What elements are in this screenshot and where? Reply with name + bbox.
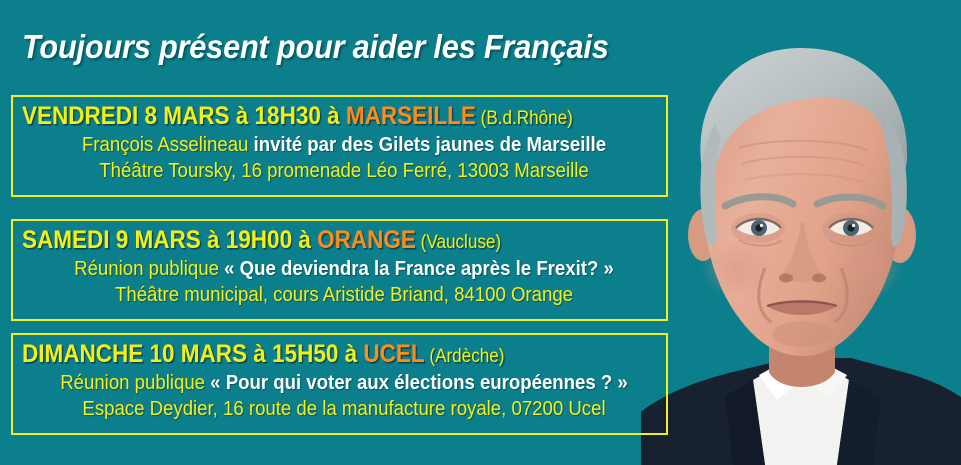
event-headline: SAMEDI 9 MARS à 19H00 à ORANGE (Vaucluse…	[22, 226, 602, 256]
event-venue: Théâtre Toursky, 16 promenade Léo Ferré,…	[45, 158, 644, 184]
event-speaker-name: François Asselineau	[82, 134, 254, 156]
event-headline-department: (Ardèche)	[425, 346, 505, 367]
event-headline-main: VENDREDI 8 MARS à 18H30 à	[22, 102, 346, 130]
event-subline-detail: « Que deviendra la France après le Frexi…	[224, 258, 614, 280]
event-subline-detail: « Pour qui voter aux élections européenn…	[210, 372, 628, 394]
event-headline-city: UCEL	[363, 340, 424, 368]
event-subline-speaker: François Asselineau invité par des Gilet…	[45, 132, 644, 158]
event-box: SAMEDI 9 MARS à 19H00 à ORANGE (Vaucluse…	[11, 219, 668, 321]
event-venue: Théâtre municipal, cours Aristide Briand…	[45, 282, 644, 308]
event-subline-speaker: Réunion publique « Pour qui voter aux él…	[45, 370, 644, 396]
event-headline-city: ORANGE	[317, 226, 416, 254]
event-subline-speaker: Réunion publique « Que deviendra la Fran…	[45, 256, 644, 282]
event-headline: VENDREDI 8 MARS à 18H30 à MARSEILLE (B.d…	[22, 102, 602, 132]
poster-root: Toujours présent pour aider les Français…	[0, 0, 961, 465]
event-headline-department: (B.d.Rhône)	[476, 108, 573, 129]
event-headline-city: MARSEILLE	[346, 102, 476, 130]
portrait-illustration	[641, 0, 961, 465]
event-headline-department: (Vaucluse)	[416, 232, 501, 253]
event-meeting-type: Réunion publique	[74, 258, 224, 280]
page-title: Toujours présent pour aider les Français	[22, 28, 609, 66]
speaker-portrait	[641, 0, 961, 465]
event-subline-detail: invité par des Gilets jaunes de Marseill…	[254, 134, 607, 156]
event-headline: DIMANCHE 10 MARS à 15H50 à UCEL (Ardèche…	[22, 340, 602, 370]
event-headline-main: SAMEDI 9 MARS à 19H00 à	[22, 226, 317, 254]
event-meeting-type: Réunion publique	[60, 372, 210, 394]
event-box: VENDREDI 8 MARS à 18H30 à MARSEILLE (B.d…	[11, 95, 668, 197]
event-venue: Espace Deydier, 16 route de la manufactu…	[45, 396, 644, 422]
event-headline-main: DIMANCHE 10 MARS à 15H50 à	[22, 340, 363, 368]
event-box: DIMANCHE 10 MARS à 15H50 à UCEL (Ardèche…	[11, 333, 668, 435]
